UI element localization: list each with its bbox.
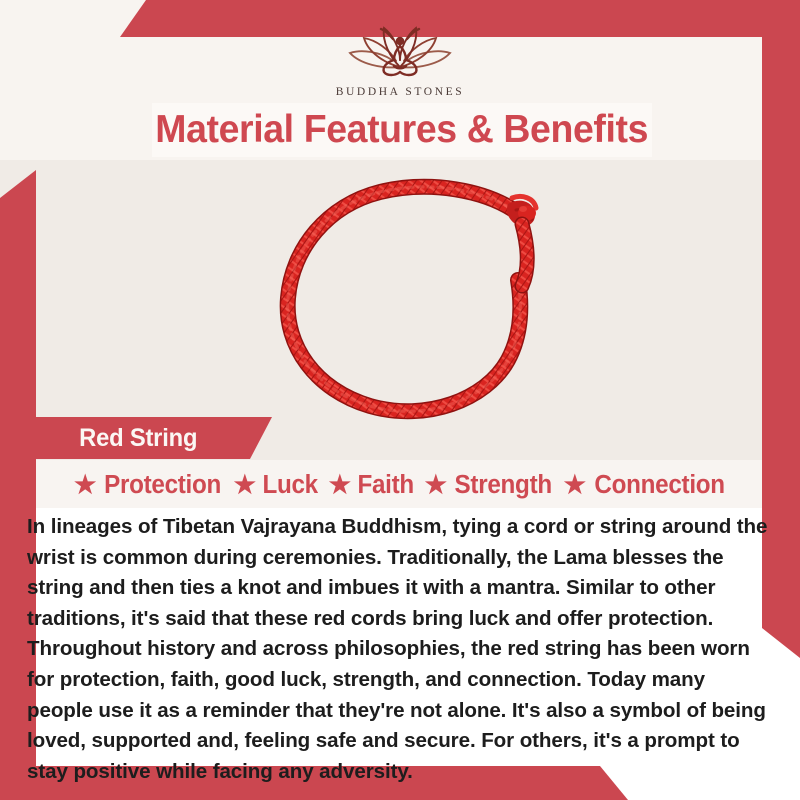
benefit-item-luck: ★ Luck <box>234 471 319 500</box>
benefit-item-connection: ★ Connection <box>564 471 728 500</box>
brand-name: BUDDHA STONES <box>336 86 464 98</box>
benefit-item-protection: ★ Protection <box>74 471 224 500</box>
benefits-row: ★ Protection ★ Luck ★ Faith ★ Strength ★… <box>30 466 770 504</box>
brand-logo: BUDDHA STONES <box>0 22 800 98</box>
description-block: In lineages of Tibetan Vajrayana Buddhis… <box>27 512 775 787</box>
benefit-label: Faith <box>357 471 413 500</box>
star-icon: ★ <box>329 473 351 498</box>
benefit-label: Luck <box>262 471 317 500</box>
description-paragraph: In lineages of Tibetan Vajrayana Buddhis… <box>27 512 775 787</box>
lotus-meditation-icon <box>340 22 460 84</box>
product-image <box>250 168 580 420</box>
star-icon: ★ <box>425 473 447 498</box>
star-icon: ★ <box>564 473 586 498</box>
infographic-page: BUDDHA STONES Material Features & Benefi… <box>0 0 800 800</box>
benefit-label: Strength <box>454 471 551 500</box>
star-icon: ★ <box>234 473 256 498</box>
page-title-text: Material Features & Benefits <box>156 108 649 152</box>
benefit-item-strength: ★ Strength <box>425 471 555 500</box>
section-ribbon-label: Red String <box>79 424 197 453</box>
benefit-label: Protection <box>104 471 221 500</box>
section-ribbon: Red String <box>22 417 272 459</box>
page-title: Material Features & Benefits <box>152 103 652 157</box>
benefit-item-faith: ★ Faith <box>329 471 416 500</box>
star-icon: ★ <box>74 473 96 498</box>
benefit-label: Connection <box>594 471 724 500</box>
